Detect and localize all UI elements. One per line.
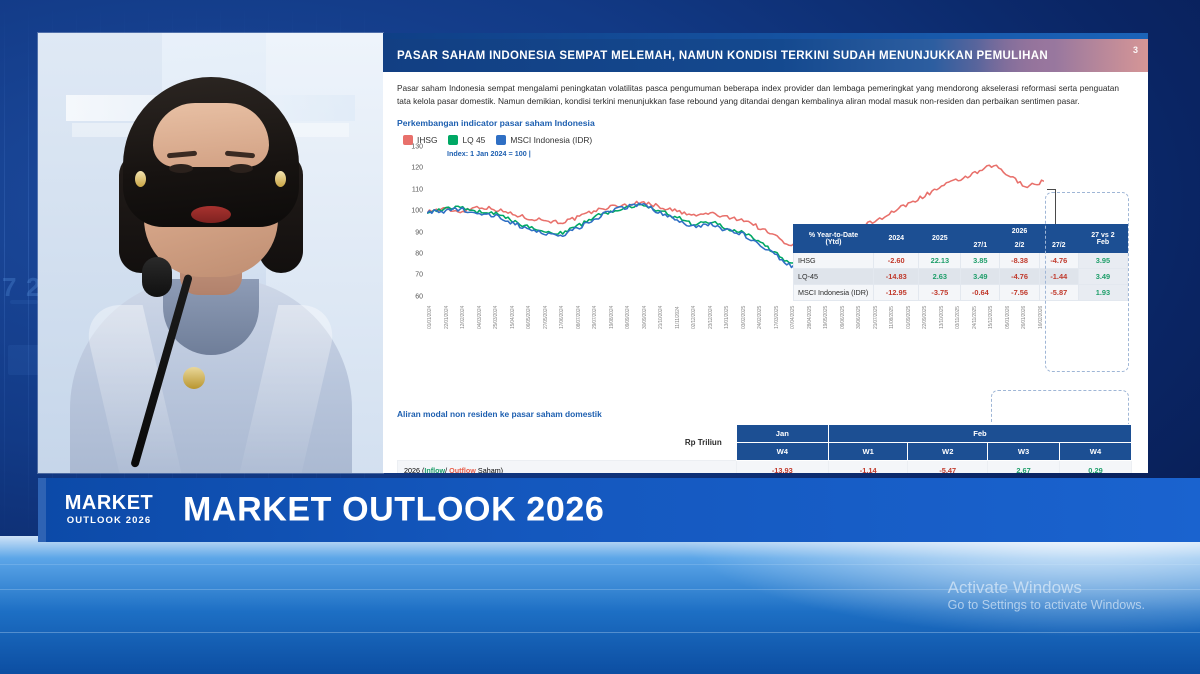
ytd-cell: -1.44 xyxy=(1039,269,1078,285)
flow-value-cell: 2.67 xyxy=(988,461,1060,474)
x-tick-4: 25/03/2024 xyxy=(493,297,499,329)
x-tick-36: 26/01/2026 xyxy=(1021,297,1027,329)
y-tick-110: 110 xyxy=(412,186,423,193)
ytd-table-head: % Year-to-Date (Ytd) 2024 2025 2026 27 v… xyxy=(794,225,1128,253)
nonresident-flow-table: Rp Triliun Jan Feb W4W1W2W3W4 2026 (Infl… xyxy=(397,424,1132,473)
flow-value-cell: 0.29 xyxy=(1060,461,1132,474)
perspective-floor xyxy=(0,536,1200,674)
floor-glow xyxy=(640,536,1200,646)
ytd-corner-line1: % Year-to-Date xyxy=(809,232,858,239)
x-tick-17: 23/12/2024 xyxy=(708,297,714,329)
x-tick-33: 24/11/2025 xyxy=(972,297,978,329)
microphone-icon xyxy=(142,257,172,297)
ytd-cell: 2.63 xyxy=(919,269,961,285)
speaker-eye-left xyxy=(169,164,193,173)
flow-header-feb: Feb xyxy=(828,425,1131,443)
background-ghost-number-1: 7 xyxy=(2,272,22,303)
ytd-cell: 22.13 xyxy=(919,253,961,269)
legend-label-lq45: LQ 45 xyxy=(462,135,485,145)
ytd-performance-table: % Year-to-Date (Ytd) 2024 2025 2026 27 v… xyxy=(793,224,1128,301)
flow-table-head: Rp Triliun Jan Feb W4W1W2W3W4 xyxy=(398,425,1132,461)
x-tick-10: 29/07/2024 xyxy=(592,297,598,329)
x-tick-5: 15/04/2024 xyxy=(510,297,516,329)
x-tick-11: 19/08/2024 xyxy=(609,297,615,329)
ytd-cell: -12.95 xyxy=(874,285,919,301)
ytd-header-272: 27/2 xyxy=(1039,239,1078,253)
x-tick-30: 22/09/2025 xyxy=(922,297,928,329)
flow-unit-label: Rp Triliun xyxy=(398,425,737,461)
ytd-cell: -2.60 xyxy=(874,253,919,269)
x-tick-18: 13/01/2025 xyxy=(724,297,730,329)
x-tick-29: 01/09/2025 xyxy=(906,297,912,329)
x-tick-19: 03/02/2025 xyxy=(741,297,747,329)
chart-legend: IHSG LQ 45 MSCI Indonesia (IDR) xyxy=(397,135,1134,145)
x-tick-6: 06/05/2024 xyxy=(526,297,532,329)
legend-item-lq45: LQ 45 xyxy=(448,135,485,145)
y-tick-130: 130 xyxy=(411,143,423,150)
ytd-header-2024: 2024 xyxy=(874,225,919,253)
flow-label-outflow: Outflow xyxy=(449,466,476,473)
slide-paragraph: Pasar saham Indonesia sempat mengalami p… xyxy=(397,82,1119,109)
lapel-pin xyxy=(183,367,205,389)
chart-x-axis: 01/01/202422/01/202412/02/202404/03/2024… xyxy=(427,297,1044,329)
earring-left xyxy=(135,171,146,187)
flow-week-header-3: W3 xyxy=(988,443,1060,461)
ytd-cell: -3.75 xyxy=(919,285,961,301)
ytd-row-label: MSCI Indonesia (IDR) xyxy=(794,285,874,301)
ytd-cell: -0.64 xyxy=(961,285,1000,301)
speaker-lips xyxy=(191,206,231,223)
speaker-video-panel xyxy=(38,33,383,473)
flow-value-cell: -5.47 xyxy=(908,461,988,474)
x-tick-24: 19/05/2025 xyxy=(823,297,829,329)
presentation-slide: PASAR SAHAM INDONESIA SEMPAT MELEMAH, NA… xyxy=(383,33,1148,473)
flow-section-heading: Aliran modal non residen ke pasar saham … xyxy=(397,409,602,419)
ytd-cell: -4.76 xyxy=(1039,253,1078,269)
x-tick-27: 21/07/2025 xyxy=(873,297,879,329)
x-tick-31: 13/10/2025 xyxy=(939,297,945,329)
y-tick-70: 70 xyxy=(415,272,423,279)
flow-week-header-0: W4 xyxy=(736,443,828,461)
flow-row-label: 2026 (Inflow/ Outflow Saham) xyxy=(398,461,737,474)
flow-header-jan: Jan xyxy=(736,425,828,443)
program-logo-line2: OUTLOOK 2026 xyxy=(67,515,151,526)
y-tick-80: 80 xyxy=(415,251,423,258)
table-row: MSCI Indonesia (IDR)-12.95-3.75-0.64-7.5… xyxy=(794,285,1128,301)
ytd-compare-line2: Feb xyxy=(1097,239,1109,246)
flow-label-prefix: 2026 ( xyxy=(404,466,424,473)
flow-week-header-2: W2 xyxy=(908,443,988,461)
ytd-header-compare: 27 vs 2 Feb xyxy=(1078,225,1127,253)
earring-right xyxy=(275,171,286,187)
legend-item-msci: MSCI Indonesia (IDR) xyxy=(496,135,592,145)
x-tick-25: 09/06/2025 xyxy=(840,297,846,329)
ytd-cell: -14.83 xyxy=(874,269,919,285)
slide-title-bar: PASAR SAHAM INDONESIA SEMPAT MELEMAH, NA… xyxy=(383,39,1148,72)
legend-label-msci: MSCI Indonesia (IDR) xyxy=(510,135,592,145)
x-tick-23: 28/04/2025 xyxy=(807,297,813,329)
x-tick-28: 11/08/2025 xyxy=(889,297,895,329)
x-tick-37: 16/02/2026 xyxy=(1038,297,1044,329)
ytd-header-271: 27/1 xyxy=(961,239,1000,253)
ytd-compare-cell: 3.95 xyxy=(1078,253,1127,269)
y-tick-90: 90 xyxy=(415,229,423,236)
ytd-table-body: IHSG-2.6022.133.85-8.38-4.763.95LQ-45-14… xyxy=(794,253,1128,301)
x-tick-9: 08/07/2024 xyxy=(576,297,582,329)
ytd-corner-line2: (Ytd) xyxy=(826,239,842,246)
ytd-row-label: LQ-45 xyxy=(794,269,874,285)
x-tick-26: 30/06/2025 xyxy=(856,297,862,329)
ytd-header-row-group: % Year-to-Date (Ytd) 2024 2025 2026 27 v… xyxy=(794,225,1128,239)
ytd-compare-cell: 1.93 xyxy=(1078,285,1127,301)
y-tick-100: 100 xyxy=(411,208,423,215)
slide-body: Pasar saham Indonesia sempat mengalami p… xyxy=(383,72,1148,473)
x-tick-34: 15/12/2025 xyxy=(988,297,994,329)
flow-label-inflow: Inflow xyxy=(424,466,445,473)
x-tick-7: 27/05/2024 xyxy=(543,297,549,329)
flow-table-body: 2026 (Inflow/ Outflow Saham) -13.93-1.14… xyxy=(398,461,1132,474)
x-tick-13: 30/09/2024 xyxy=(642,297,648,329)
ytd-cell: 3.49 xyxy=(961,269,1000,285)
x-tick-2: 12/02/2024 xyxy=(460,297,466,329)
x-tick-0: 01/01/2024 xyxy=(427,297,433,329)
ytd-compare-cell: 3.49 xyxy=(1078,269,1127,285)
flow-value-cell: -1.14 xyxy=(828,461,908,474)
program-title: MARKET OUTLOOK 2026 xyxy=(183,491,604,530)
table-row: IHSG-2.6022.133.85-8.38-4.763.95 xyxy=(794,253,1128,269)
speaker-eye-right xyxy=(229,164,253,173)
ytd-cell: 3.85 xyxy=(961,253,1000,269)
ytd-cell: -4.76 xyxy=(1000,269,1039,285)
flow-header-months: Rp Triliun Jan Feb xyxy=(398,425,1132,443)
ytd-cell: -7.56 xyxy=(1000,285,1039,301)
x-tick-35: 05/01/2026 xyxy=(1005,297,1011,329)
program-logo-line1: MARKET xyxy=(65,493,154,513)
ytd-header-2025: 2025 xyxy=(919,225,961,253)
lower-third-banner: MARKET OUTLOOK 2026 MARKET OUTLOOK 2026 xyxy=(38,478,1200,542)
flow-week-header-1: W1 xyxy=(828,443,908,461)
y-tick-60: 60 xyxy=(415,293,423,300)
x-tick-3: 04/03/2024 xyxy=(477,297,483,329)
flow-value-cell: -13.93 xyxy=(736,461,828,474)
slide-number: 3 xyxy=(1133,45,1138,55)
x-tick-12: 09/09/2024 xyxy=(625,297,631,329)
y-tick-120: 120 xyxy=(411,165,423,172)
slide-title: PASAR SAHAM INDONESIA SEMPAT MELEMAH, NA… xyxy=(383,50,1048,62)
x-tick-14: 21/10/2024 xyxy=(658,297,664,329)
legend-swatch-msci xyxy=(496,135,506,145)
ytd-header-22: 2/2 xyxy=(1000,239,1039,253)
flow-label-suffix: Saham) xyxy=(476,466,503,473)
ytd-compare-line1: 27 vs 2 xyxy=(1091,232,1114,239)
x-tick-20: 24/02/2025 xyxy=(757,297,763,329)
x-tick-16: 02/12/2024 xyxy=(691,297,697,329)
table-row: LQ-45-14.832.633.49-4.76-1.443.49 xyxy=(794,269,1128,285)
x-tick-21: 17/03/2025 xyxy=(774,297,780,329)
x-tick-32: 03/11/2025 xyxy=(955,297,961,329)
ytd-cell: -5.87 xyxy=(1039,285,1078,301)
x-tick-15: 11/11/2024 xyxy=(675,297,681,329)
chart-section-heading: Perkembangan indicator pasar saham Indon… xyxy=(397,118,1134,128)
chart-y-axis: 13012011010090807060 xyxy=(397,147,423,297)
legend-swatch-lq45 xyxy=(448,135,458,145)
table-row: 2026 (Inflow/ Outflow Saham) -13.93-1.14… xyxy=(398,461,1132,474)
program-logo: MARKET OUTLOOK 2026 xyxy=(50,485,168,533)
x-tick-1: 22/01/2024 xyxy=(444,297,450,329)
ytd-cell: -8.38 xyxy=(1000,253,1039,269)
ytd-corner-header: % Year-to-Date (Ytd) xyxy=(794,225,874,253)
ytd-row-label: IHSG xyxy=(794,253,874,269)
x-tick-22: 07/04/2025 xyxy=(790,297,796,329)
x-tick-8: 17/06/2024 xyxy=(559,297,565,329)
flow-week-header-4: W4 xyxy=(1060,443,1132,461)
lower-third-edge xyxy=(38,478,46,542)
ytd-header-group-2026: 2026 xyxy=(961,225,1079,239)
